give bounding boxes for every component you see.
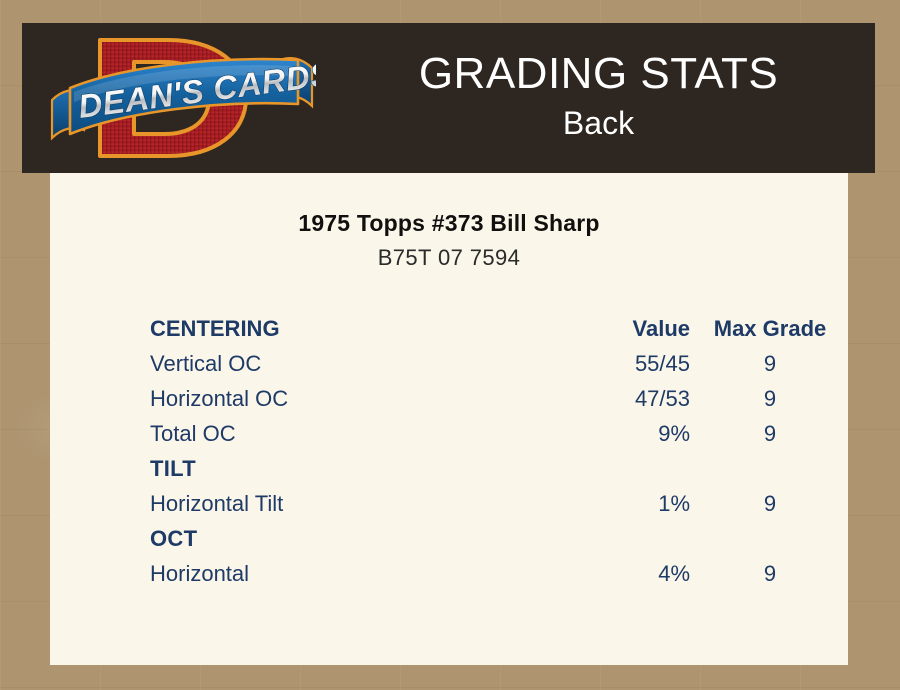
- section-spacer: [690, 521, 850, 556]
- stat-label: Horizontal: [150, 556, 505, 591]
- section-spacer: [690, 451, 850, 486]
- stat-max-grade: 9: [690, 556, 850, 591]
- header-bar: DEAN'S CARDS GRADING STATS Back: [22, 23, 875, 173]
- deans-cards-logo[interactable]: DEAN'S CARDS: [48, 26, 316, 171]
- stat-max-grade: 9: [690, 346, 850, 381]
- header-title-block: GRADING STATS Back: [322, 23, 875, 173]
- content-panel: 1975 Topps #373 Bill Sharp B75T 07 7594 …: [50, 173, 848, 665]
- table-row: Vertical OC 55/45 9: [150, 346, 850, 381]
- table-row: Horizontal Tilt 1% 9: [150, 486, 850, 521]
- grading-stats-table: CENTERING Value Max Grade Vertical OC 55…: [150, 311, 850, 591]
- stat-label: Vertical OC: [150, 346, 505, 381]
- stat-value: 47/53: [505, 381, 690, 416]
- section-title-oct: OCT: [150, 521, 505, 556]
- section-spacer: [505, 451, 690, 486]
- column-header-max-grade: Max Grade: [690, 311, 850, 346]
- table-row: Total OC 9% 9: [150, 416, 850, 451]
- stat-label: Horizontal Tilt: [150, 486, 505, 521]
- section-header-row: TILT: [150, 451, 850, 486]
- stat-value: 9%: [505, 416, 690, 451]
- page-subtitle: Back: [563, 103, 634, 145]
- card-title: 1975 Topps #373 Bill Sharp: [50, 210, 848, 237]
- column-header-value: Value: [505, 311, 690, 346]
- stat-max-grade: 9: [690, 416, 850, 451]
- table-row: Horizontal 4% 9: [150, 556, 850, 591]
- table-header-row: CENTERING Value Max Grade: [150, 311, 850, 346]
- section-title-tilt: TILT: [150, 451, 505, 486]
- stat-label: Total OC: [150, 416, 505, 451]
- page-title: GRADING STATS: [419, 51, 778, 97]
- stat-value: 1%: [505, 486, 690, 521]
- section-header-row: OCT: [150, 521, 850, 556]
- stat-label: Horizontal OC: [150, 381, 505, 416]
- stat-max-grade: 9: [690, 486, 850, 521]
- stat-max-grade: 9: [690, 381, 850, 416]
- card-serial-number: B75T 07 7594: [50, 245, 848, 271]
- table-row: Horizontal OC 47/53 9: [150, 381, 850, 416]
- stat-value: 4%: [505, 556, 690, 591]
- column-header-centering: CENTERING: [150, 311, 505, 346]
- section-spacer: [505, 521, 690, 556]
- stat-value: 55/45: [505, 346, 690, 381]
